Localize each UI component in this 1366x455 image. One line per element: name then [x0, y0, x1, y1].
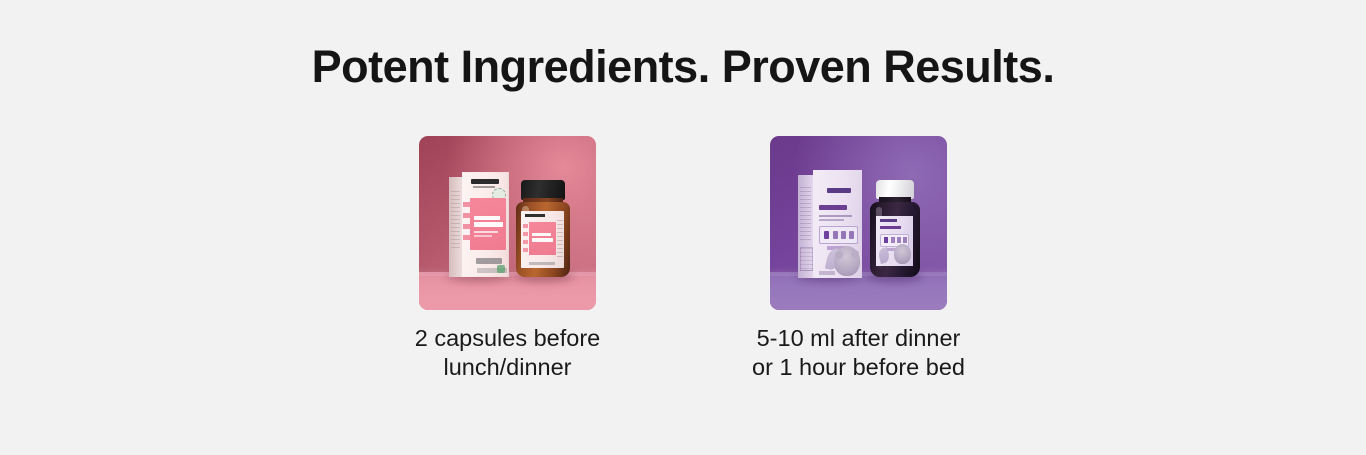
- product-subtitle-line1: [474, 231, 498, 233]
- page-title: Potent Ingredients. Proven Results.: [0, 38, 1366, 96]
- bottle-product-name-line1: [532, 233, 551, 236]
- benefit-icon-panel: [819, 226, 858, 244]
- brand-logo: [471, 179, 499, 184]
- product-subtitle-line2: [474, 235, 492, 237]
- syrup-carton: [798, 170, 862, 278]
- caption-line-1: 2 capsules before: [393, 324, 623, 353]
- bottle-benefit-icon-3: [897, 237, 901, 243]
- product-name-line1: [474, 216, 500, 220]
- carton-front-panel: [813, 170, 862, 278]
- bottle-benefit-icon-2: [891, 237, 895, 243]
- carton-side-panel: [449, 177, 462, 277]
- product-subtitle-line1: [819, 215, 852, 217]
- carton-side-text-lines: [451, 191, 460, 251]
- bottle-product-name-panel: [529, 222, 556, 255]
- product-image-syrup[interactable]: [770, 136, 947, 310]
- bottle-benefit-icons: [523, 224, 528, 254]
- product-name-panel: [470, 198, 506, 250]
- bottle-label-side-text: [557, 220, 563, 258]
- benefit-icons: [463, 202, 470, 246]
- carton-footer-text: [819, 271, 835, 275]
- multivitamin-carton: [449, 172, 509, 277]
- bottle-product-name-line2: [532, 238, 553, 242]
- product-image-multivitamin[interactable]: [419, 136, 596, 310]
- brand-logo: [827, 188, 851, 193]
- multivitamin-bottle: [515, 180, 571, 277]
- bottle-benefit-icon-4: [903, 237, 907, 243]
- benefit-icon-3: [841, 231, 846, 239]
- product-subtitle-line2: [819, 219, 844, 221]
- caption-line-1: 5-10 ml after dinner: [744, 324, 974, 353]
- benefit-icon-4: [849, 231, 854, 239]
- product-column-multivitamin: 2 capsules before lunch/dinner: [419, 136, 596, 382]
- product-columns: 2 capsules before lunch/dinner: [419, 136, 947, 382]
- bottle-label-footer: [529, 262, 555, 265]
- bottle-brand-logo: [880, 219, 897, 222]
- koala-illustration-icon: [834, 246, 860, 276]
- caption-line-2: lunch/dinner: [393, 353, 623, 382]
- product-column-syrup: 5-10 ml after dinner or 1 hour before be…: [770, 136, 947, 382]
- bottle-label: [876, 216, 913, 266]
- bottle-product-name: [880, 226, 901, 229]
- koala-illustration-icon: [894, 244, 911, 264]
- product-usage-section: Potent Ingredients. Proven Results.: [0, 0, 1366, 455]
- benefit-icon-2: [833, 231, 838, 239]
- eco-mark-icon: [497, 265, 505, 273]
- bottle-label: [521, 211, 564, 268]
- caption-line-2: or 1 hour before bed: [744, 353, 974, 382]
- carton-nutrition-table: [800, 247, 813, 271]
- carton-side-text-lines: [800, 187, 811, 242]
- benefit-icon-1: [824, 231, 829, 239]
- product-caption-syrup: 5-10 ml after dinner or 1 hour before be…: [744, 324, 974, 382]
- syrup-bottle: [868, 180, 922, 277]
- product-name-line2: [474, 222, 503, 227]
- bottle-cap: [521, 180, 565, 200]
- capsule-count-label: [476, 258, 502, 264]
- brand-tagline: [473, 186, 495, 188]
- product-name-label: [819, 205, 847, 210]
- bottle-brand-logo: [525, 214, 545, 217]
- bottle-benefit-icon-1: [884, 237, 888, 243]
- carton-side-panel: [798, 175, 813, 278]
- carton-front-panel: [462, 172, 509, 277]
- product-caption-multivitamin: 2 capsules before lunch/dinner: [393, 324, 623, 382]
